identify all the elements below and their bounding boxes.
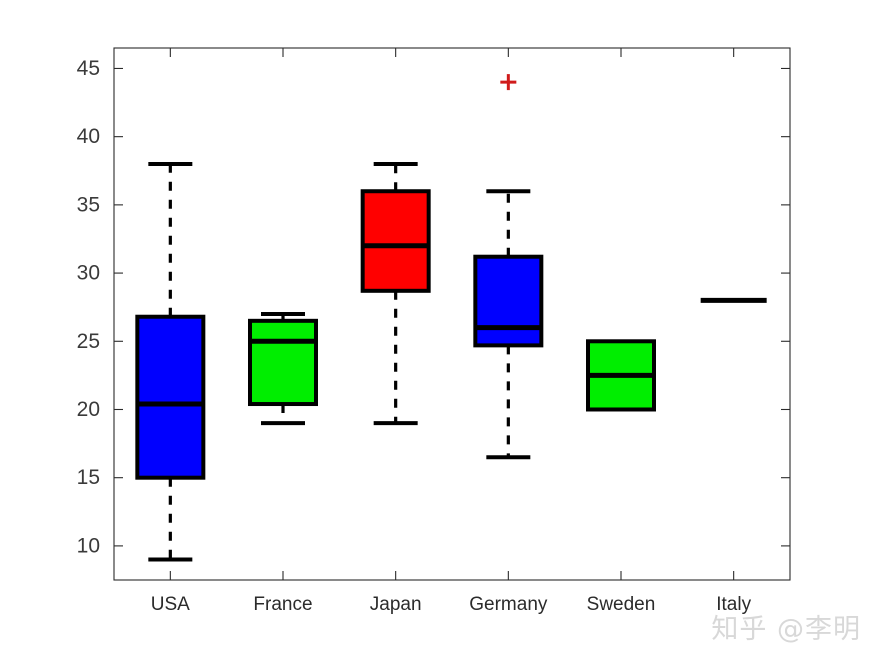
x-axis-label-france: France bbox=[253, 594, 312, 615]
plot-area-frame bbox=[114, 48, 790, 580]
y-tick-label: 45 bbox=[77, 57, 100, 80]
x-axis-label-japan: Japan bbox=[370, 594, 422, 615]
axes bbox=[114, 48, 790, 580]
box-series bbox=[137, 74, 766, 559]
y-tick-label: 35 bbox=[77, 193, 100, 216]
watermark: 知乎 @李明 bbox=[711, 607, 861, 646]
y-tick-label: 15 bbox=[77, 466, 100, 489]
figure-canvas: 1015202530354045 USAFranceJapanGermanySw… bbox=[0, 0, 875, 656]
box-group-sweden bbox=[588, 341, 654, 409]
x-axis-label-germany: Germany bbox=[469, 594, 548, 615]
x-axis-label-usa: USA bbox=[151, 594, 190, 615]
box-body bbox=[137, 317, 203, 478]
y-tick-label: 40 bbox=[77, 125, 100, 148]
box-body bbox=[363, 191, 429, 291]
y-axis-tick-labels: 1015202530354045 bbox=[77, 57, 100, 557]
y-tick-label: 25 bbox=[77, 330, 100, 353]
box-body bbox=[475, 257, 541, 346]
box-body bbox=[250, 321, 316, 404]
y-tick-label: 10 bbox=[77, 534, 100, 557]
box-group-japan bbox=[363, 164, 429, 423]
y-tick-label: 30 bbox=[77, 262, 100, 285]
y-tick-label: 20 bbox=[77, 398, 100, 421]
x-axis-category-labels: USAFranceJapanGermanySwedenItaly bbox=[151, 594, 752, 615]
box-group-france bbox=[250, 314, 316, 423]
boxplot-chart: 1015202530354045 USAFranceJapanGermanySw… bbox=[0, 0, 875, 656]
box-group-usa bbox=[137, 164, 203, 560]
box-group-germany bbox=[475, 74, 541, 457]
y-axis-ticks bbox=[114, 48, 790, 580]
x-axis-label-sweden: Sweden bbox=[587, 594, 656, 615]
